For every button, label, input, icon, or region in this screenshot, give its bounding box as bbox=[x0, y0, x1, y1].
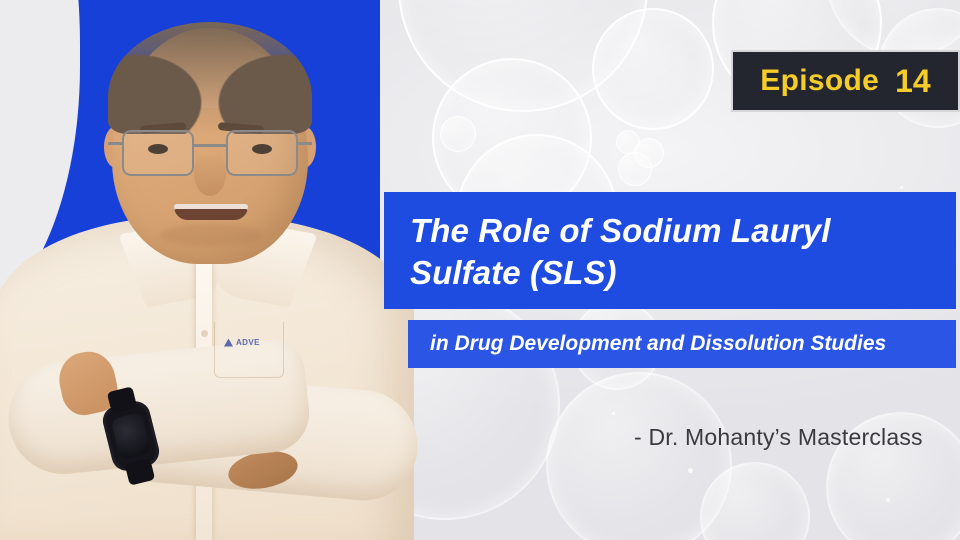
bubble-icon bbox=[700, 462, 810, 540]
bubble-speck-icon bbox=[612, 412, 615, 415]
shirt-pocket bbox=[214, 322, 284, 378]
bubble-icon bbox=[546, 372, 732, 540]
bubble-speck-icon bbox=[886, 498, 890, 502]
bubble-icon bbox=[634, 138, 664, 168]
bubble-icon bbox=[398, 0, 648, 112]
thumbnail-slide: ADVE Episode 14 The Role of Sodium Laury… bbox=[0, 0, 960, 540]
attribution-text: - Dr. Mohanty’s Masterclass bbox=[634, 424, 923, 451]
title-line-2: Sulfate (SLS) bbox=[410, 252, 934, 294]
watch-band-top bbox=[107, 386, 138, 414]
bubble-speck-icon bbox=[688, 468, 693, 473]
presenter-chin-shadow bbox=[160, 224, 262, 246]
triangle-logo-icon bbox=[224, 339, 233, 347]
presenter-photo: ADVE bbox=[0, 0, 430, 540]
shirt-button-icon bbox=[201, 330, 208, 337]
bubble-icon bbox=[616, 130, 640, 154]
eyeglass-bridge bbox=[194, 144, 226, 147]
bubble-speck-icon bbox=[900, 186, 903, 189]
presenter-mouth bbox=[174, 204, 248, 220]
episode-badge: Episode 14 bbox=[731, 50, 960, 112]
presenter-hair bbox=[108, 22, 312, 134]
eyeglass-temple-left bbox=[108, 142, 122, 145]
subtitle-block: in Drug Development and Dissolution Stud… bbox=[408, 320, 956, 368]
eyeglass-lens-left bbox=[122, 130, 194, 176]
episode-number: 14 bbox=[895, 63, 931, 100]
bubble-icon bbox=[440, 116, 476, 152]
watch-face bbox=[110, 412, 151, 460]
eyeglass-temple-right bbox=[298, 142, 312, 145]
title-line-1: The Role of Sodium Lauryl bbox=[410, 210, 934, 252]
presenter-nose bbox=[194, 152, 226, 196]
bubble-icon bbox=[618, 152, 652, 186]
shirt-brand-logo: ADVE bbox=[224, 338, 260, 347]
episode-label: Episode bbox=[760, 64, 879, 98]
eyeglass-lens-right bbox=[226, 130, 298, 176]
title-block: The Role of Sodium Lauryl Sulfate (SLS) bbox=[384, 192, 956, 309]
bubble-icon bbox=[592, 8, 714, 130]
subtitle-line-1: in Drug Development and Dissolution Stud… bbox=[430, 331, 938, 356]
shirt-brand-text: ADVE bbox=[236, 338, 260, 347]
